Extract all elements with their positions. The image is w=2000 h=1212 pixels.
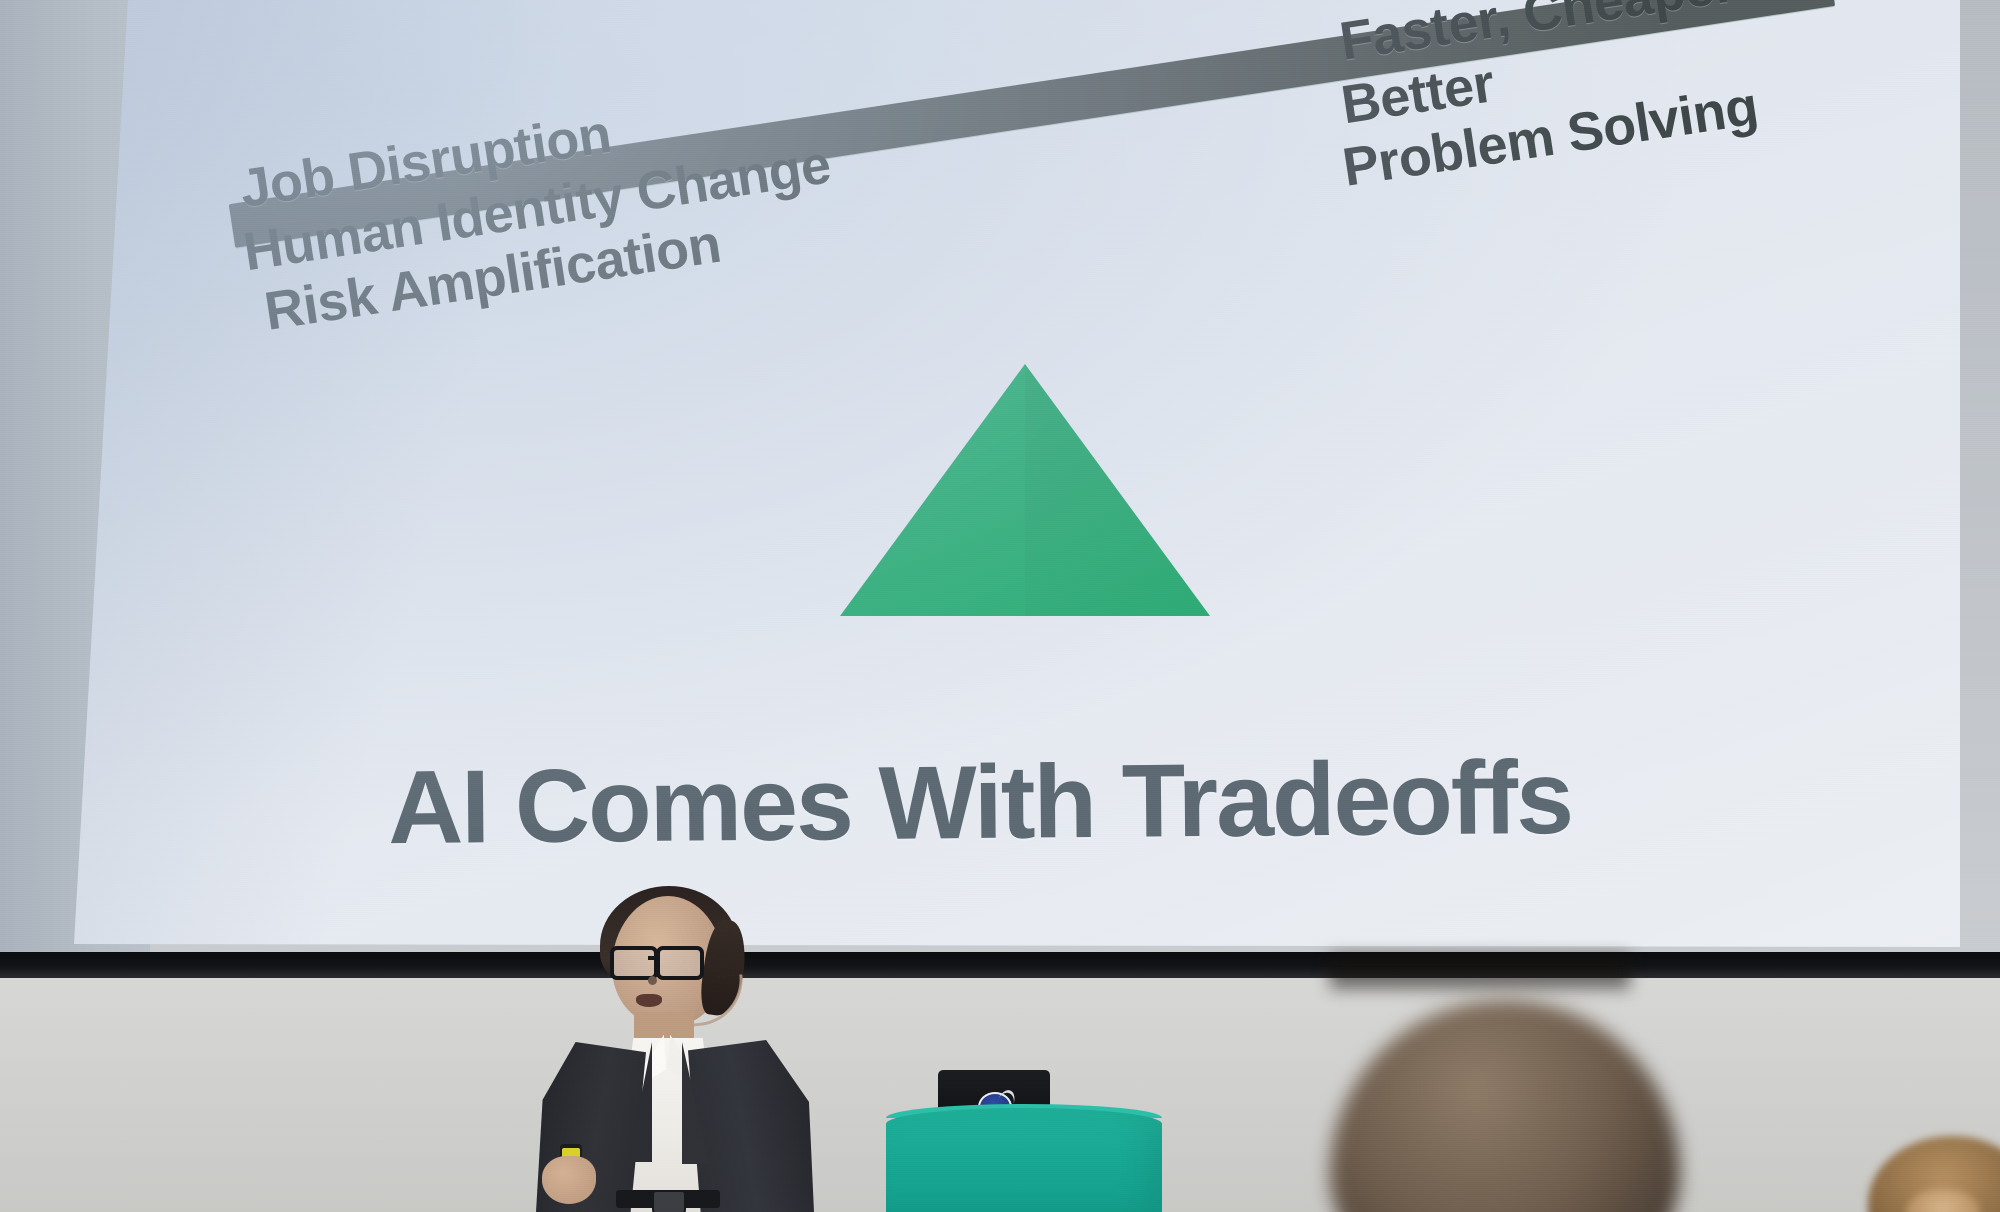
presenter: [520, 890, 860, 1212]
slide-right-items: Faster, Cheaper Better Problem Solving: [1320, 0, 1762, 200]
photo-stage: Job Disruption Human Identity Change Ris…: [0, 0, 2000, 1212]
projection-screen: Job Disruption Human Identity Change Ris…: [0, 0, 1960, 992]
belt-buckle: [652, 1190, 686, 1212]
microphone-capsule-icon: [648, 976, 657, 985]
presenter-mouth: [636, 994, 662, 1007]
lectern: [886, 1108, 1162, 1212]
audience-shadow: [1330, 955, 1630, 989]
suit-jacket-right: [688, 1040, 814, 1212]
slide-left-items: Job Disruption Human Identity Change Ris…: [228, 71, 844, 346]
fulcrum-triangle-icon: [840, 364, 1210, 616]
slide-title: AI Comes With Tradeoffs: [0, 735, 1960, 871]
eyeglasses-right-lens-icon: [656, 946, 704, 980]
eyeglasses-bridge-icon: [648, 956, 658, 960]
presenter-hand: [542, 1156, 596, 1204]
screen-bottom-frame: [0, 952, 2000, 978]
eyeglasses-left-lens-icon: [610, 946, 658, 980]
